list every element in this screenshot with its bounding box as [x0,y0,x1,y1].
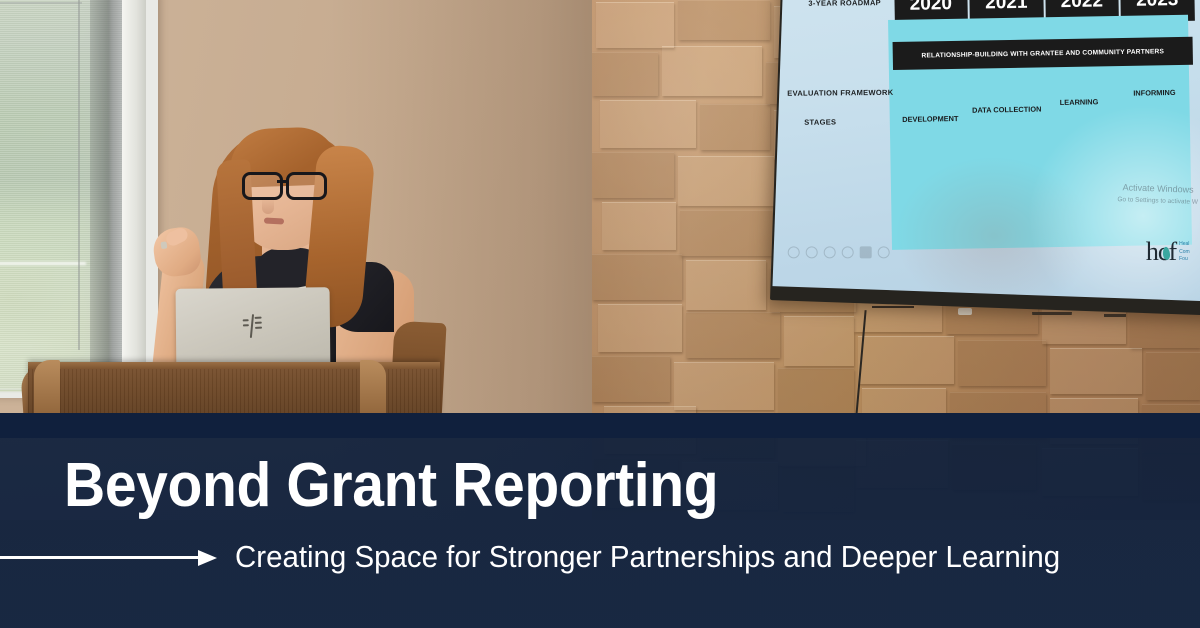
slide-relationship-band: RELATIONSHIP-BUILDING WITH GRANTEE AND C… [893,37,1193,70]
arrow-shaft [0,556,206,559]
nose [262,198,274,214]
pen-icon[interactable] [806,246,818,258]
eyeglasses-icon [242,172,326,194]
slide-stage-development: DEVELOPMENT [892,115,968,125]
powerpoint-presenter-toolbar-icon[interactable] [788,246,890,258]
hcf-logo-icon: hcf Heal Com Fou [1146,240,1190,265]
arrow-head [198,550,217,566]
wall-mounted-display: RESPONSE 3-YEAR ROADMAP 2020 2021 2022 2… [770,0,1200,316]
page-title: Beyond Grant Reporting [64,455,718,517]
banner-solid-strip [0,413,1200,438]
display-screen: RESPONSE 3-YEAR ROADMAP 2020 2021 2022 2… [772,0,1200,302]
options-icon[interactable] [860,246,872,258]
ring [160,241,167,249]
slide-label-framework-1: EVALUATION FRAMEWORK [787,88,893,98]
hcf-logo-words: Heal Com Fou [1179,241,1190,264]
thumb [164,226,190,248]
slide-stage-data-collection: DATA COLLECTION [969,105,1045,115]
glasses-bridge [277,180,286,183]
slide-label-roadmap: 3-YEAR ROADMAP [808,0,881,8]
mouth [264,217,284,224]
slide-label-framework-2: STAGES [804,118,836,127]
hcf-word-1: Heal [1179,241,1190,249]
grid-icon[interactable] [824,246,836,258]
zoom-icon[interactable] [842,246,854,258]
hp-logo-icon [241,313,264,338]
pointer-icon[interactable] [788,246,800,258]
promo-banner-image: RESPONSE 3-YEAR ROADMAP 2020 2021 2022 2… [0,0,1200,628]
window-mullion-horizontal [0,2,82,4]
arrow-right-icon [0,549,222,567]
window-shade-edge [90,0,124,390]
hcf-word-3: Fou [1179,256,1190,264]
more-icon[interactable] [878,246,890,258]
lens-left [242,172,283,200]
presentation-slide: RESPONSE 3-YEAR ROADMAP 2020 2021 2022 2… [772,0,1200,302]
hcf-word-2: Com [1179,249,1190,257]
title-banner [0,413,1200,628]
lens-right [286,172,327,200]
wall-plate [958,308,972,315]
window-mullion-vertical [78,0,80,350]
window [0,0,158,398]
page-subtitle: Creating Space for Stronger Partnerships… [235,540,1060,574]
hcf-logo-mark: hcf [1146,237,1176,266]
window-sill-highlight [0,262,86,265]
window-jamb [122,0,146,388]
